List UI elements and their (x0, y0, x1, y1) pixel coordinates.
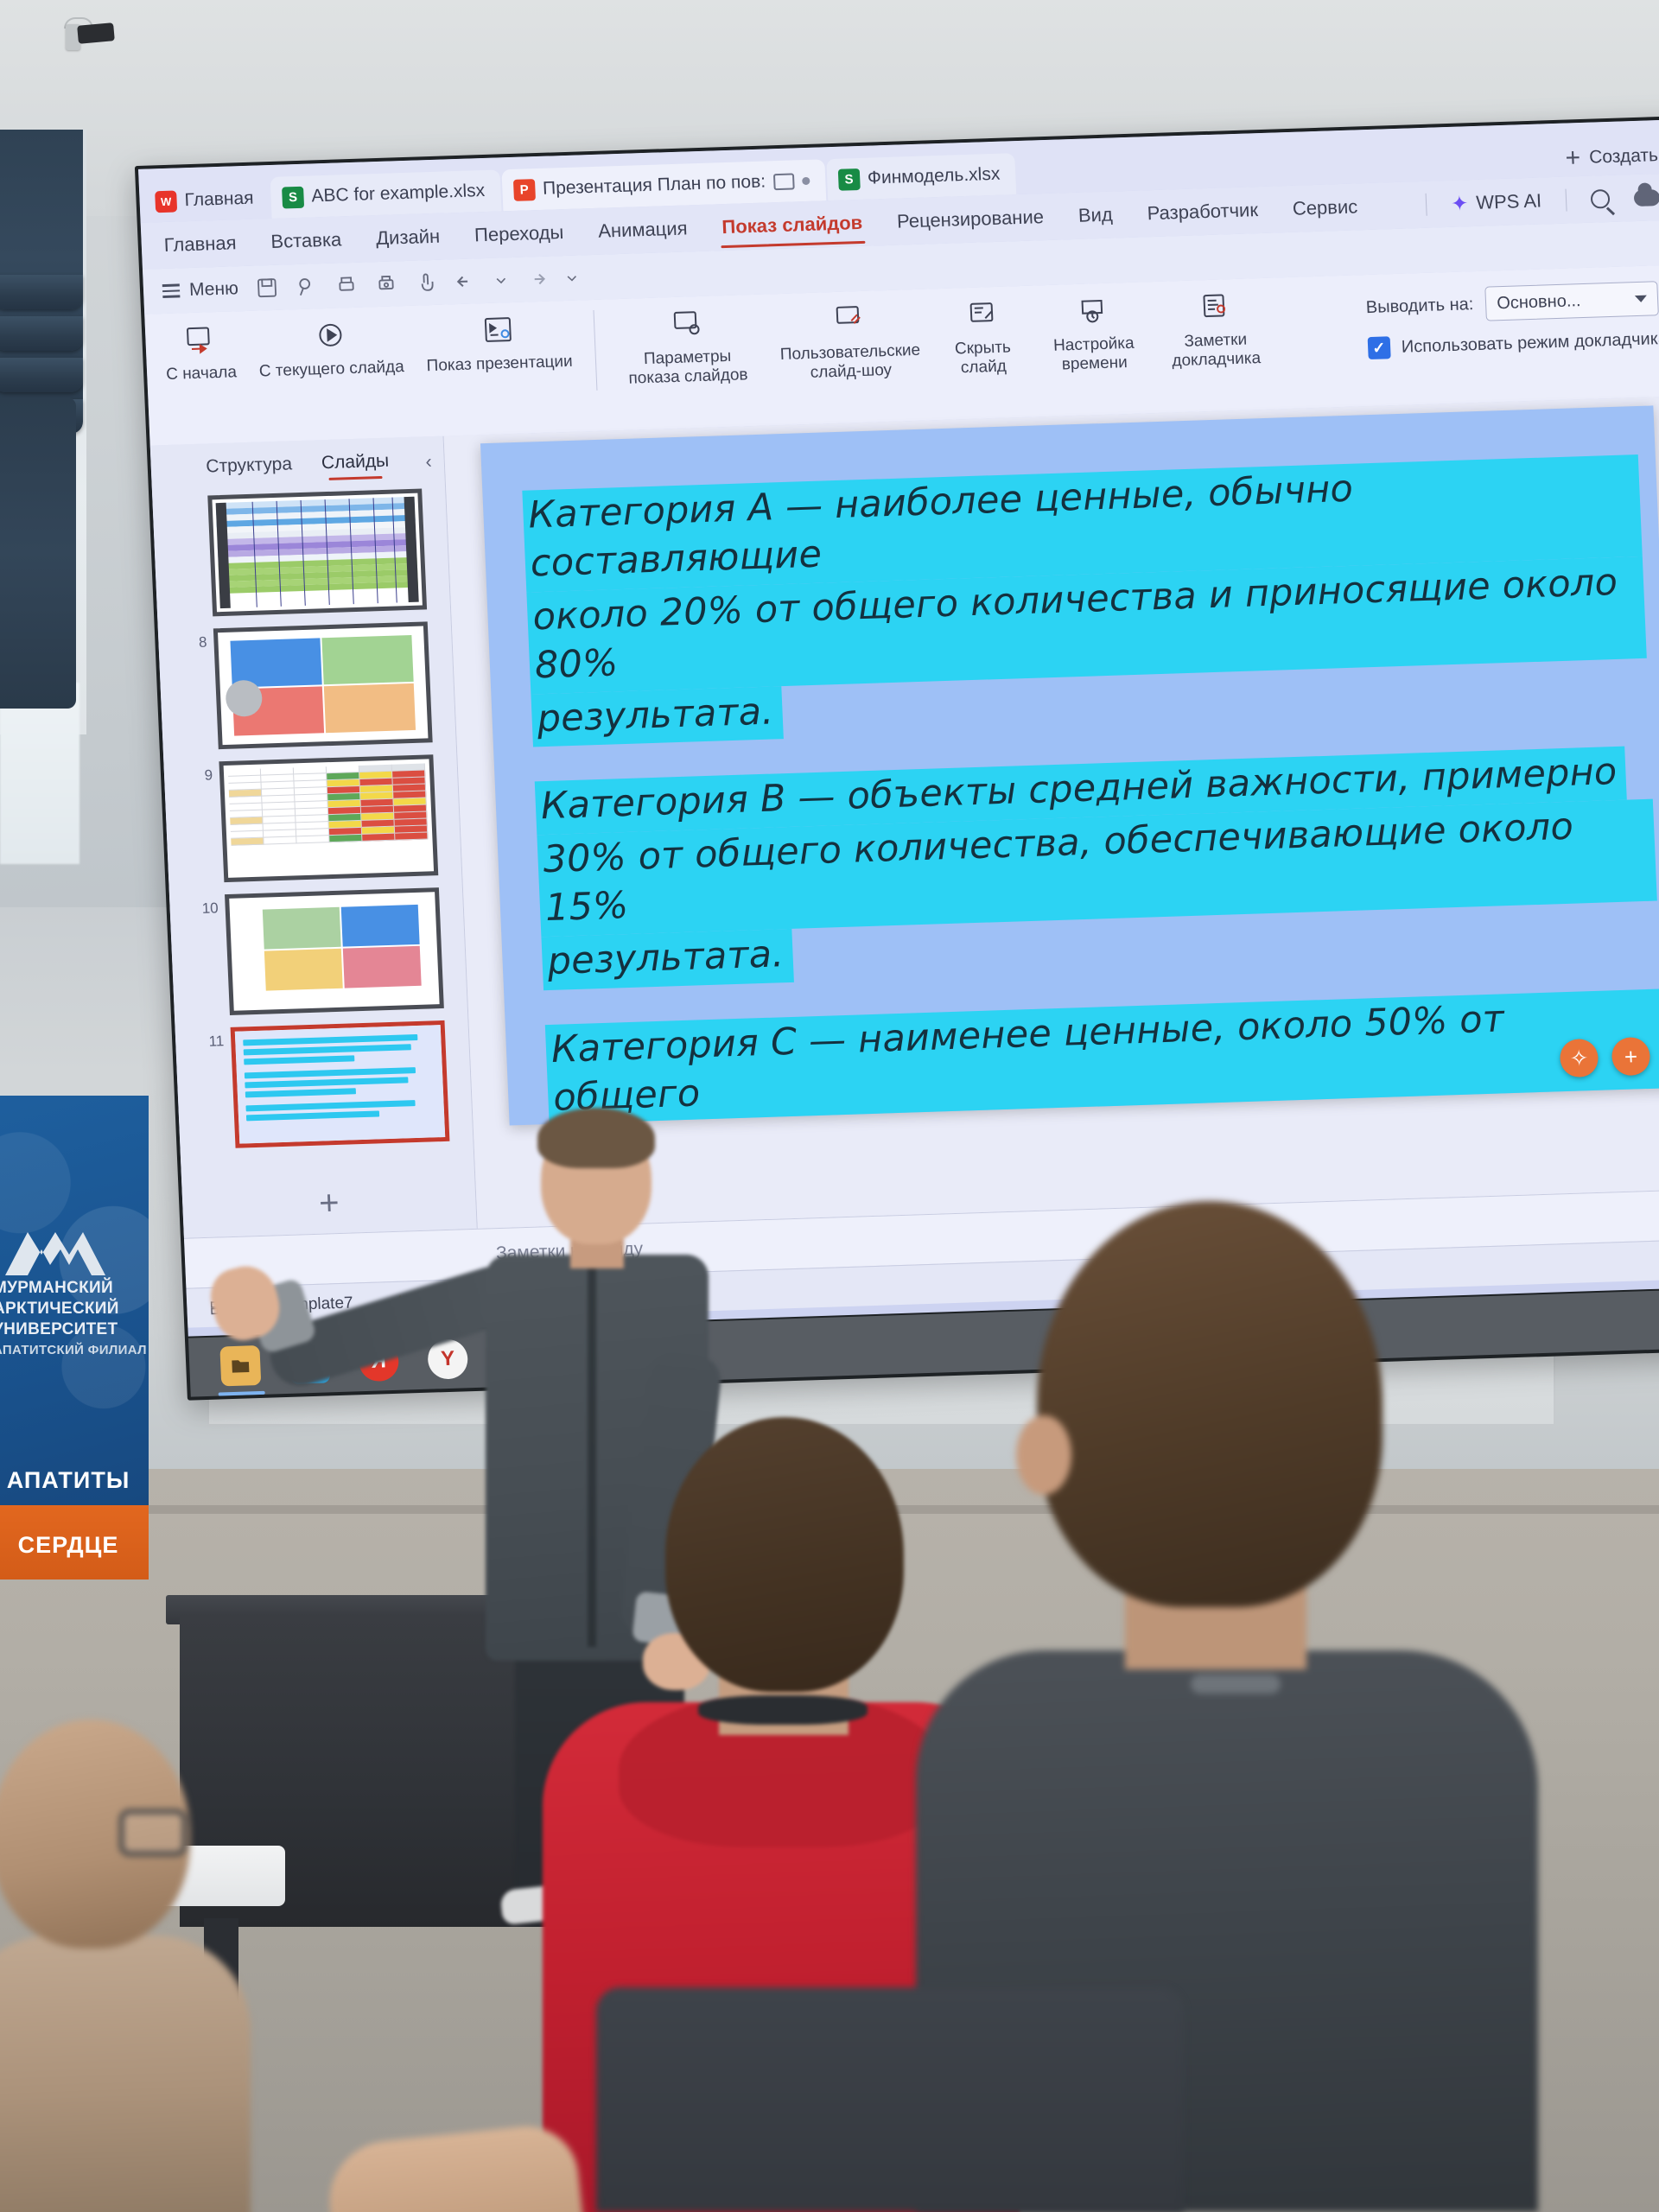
tab-home[interactable]: W Главная (148, 177, 270, 222)
output-value: Основно... (1497, 291, 1581, 314)
ribbon-tab-perehody[interactable]: Переходы (472, 218, 566, 250)
doc-tab-abc-example[interactable]: S ABC for example.xlsx (270, 169, 501, 219)
slide-thumbnail-matrix2[interactable] (225, 887, 444, 1015)
ribbon-right-tools: ✦ WPS AI (1426, 185, 1659, 218)
touch-mode-icon[interactable] (414, 271, 437, 295)
menu-button[interactable]: Меню (162, 278, 239, 302)
output-monitor-select[interactable]: Основно... (1484, 281, 1659, 321)
plus-icon: + (1565, 145, 1581, 172)
student-left (0, 1719, 251, 2212)
chevron-left-icon[interactable]: ‹ (425, 450, 432, 473)
ribbon-tab-pokaz-slaydov[interactable]: Показ слайдов (720, 208, 865, 242)
student-dark-ear (1016, 1415, 1071, 1495)
banner-line-4: АПАТИТСКИЙ ФИЛИАЛ (0, 1343, 149, 1357)
wps-ai-label: WPS AI (1476, 190, 1542, 214)
button-label: Параметры показа слайдов (618, 346, 758, 390)
foreground-chair (596, 1987, 1184, 2212)
chevron-down-icon[interactable] (493, 269, 508, 291)
hamburger-icon (162, 284, 181, 298)
play-circle-icon (310, 318, 350, 353)
presentation-show-button[interactable]: Показ презентации (424, 311, 573, 377)
slide-thumbnail-spreadsheet[interactable] (207, 488, 427, 616)
doc-tab-label: ABC for example.xlsx (311, 181, 486, 207)
slide-thumbnail-table[interactable] (219, 754, 438, 882)
file-explorer-icon[interactable] (219, 1345, 261, 1386)
wps-ai-button[interactable]: ✦ WPS AI (1451, 188, 1542, 216)
floating-action-buttons: ✧ + (1560, 1037, 1651, 1077)
thumb-content (235, 1025, 445, 1144)
blind-lower (0, 397, 76, 709)
student-red-head (665, 1417, 904, 1692)
customize-dropdown-icon[interactable] (564, 267, 579, 289)
window-light (0, 683, 79, 864)
slide-number: 9 (193, 761, 213, 785)
present-monitor-icon[interactable] (773, 173, 795, 190)
tab-slides[interactable]: Слайды (321, 451, 389, 474)
presentation-icon: P (513, 179, 536, 201)
search-icon[interactable] (1591, 189, 1611, 209)
spreadsheet-icon: S (837, 168, 860, 190)
slide-number: 11 (205, 1027, 225, 1051)
ribbon-tab-vid[interactable]: Вид (1076, 200, 1115, 230)
print-preview-icon[interactable] (374, 272, 397, 296)
ai-sparkle-icon: ✦ (1451, 191, 1469, 217)
slide-thumbnail-current-text[interactable] (231, 1020, 450, 1148)
presenter-hair (537, 1108, 655, 1168)
button-label: Заметки докладчика (1166, 330, 1267, 372)
start-from-beginning-button[interactable]: С начала (164, 321, 238, 385)
blind-fold (0, 358, 83, 392)
new-document-label: Создать (1589, 145, 1659, 168)
print-icon[interactable] (334, 274, 358, 297)
banner-line-2: АРКТИЧЕСКИЙ (0, 1300, 149, 1319)
start-from-current-slide-button[interactable]: С текущего слайда (257, 316, 404, 382)
list-item[interactable] (181, 488, 442, 617)
button-label: Настройка времени (1044, 334, 1145, 375)
doc-tab-label: Финмодель.xlsx (867, 164, 1000, 189)
slide-start-icon (181, 322, 220, 358)
slide-line: результата. (531, 686, 783, 747)
button-label: С текущего слайда (258, 358, 404, 382)
add-icon[interactable]: + (1611, 1037, 1651, 1076)
hide-slide-icon (962, 297, 1001, 333)
checkbox-checked-icon[interactable]: ✓ (1367, 336, 1390, 359)
speaker-notes-icon (1194, 289, 1234, 325)
tab-home-label: Главная (184, 188, 254, 212)
panel-tab-bar: Структура Слайды ‹ (150, 436, 445, 493)
student-red-collar (698, 1695, 868, 1725)
paragraph-category-b: Категория B — объекты средней важности, … (535, 746, 1659, 990)
list-item[interactable]: 10 (199, 887, 459, 1016)
rehearse-timing-icon (1072, 294, 1112, 329)
search-file-icon[interactable] (295, 275, 318, 298)
current-slide-canvas[interactable]: Категория A — наиболее ценные, обычно со… (480, 405, 1659, 1125)
undo-icon[interactable] (454, 270, 477, 293)
ribbon-tab-glavnaya[interactable]: Главная (162, 228, 238, 260)
lecture-hall-scene: W Главная S ABC for example.xlsx P Презе… (0, 0, 1659, 2212)
thumb-content (263, 905, 422, 991)
speaker-notes-button[interactable]: Заметки докладчика (1164, 289, 1267, 372)
ribbon-tab-dizayn[interactable]: Дизайн (374, 222, 442, 253)
list-item[interactable]: 9 (193, 754, 453, 883)
ribbon-group-start-show: С начала С текущего слайда (164, 310, 595, 385)
thumb-content (216, 497, 419, 608)
university-banner: МУРМАНСКИЙ АРКТИЧЕСКИЙ УНИВЕРСИТЕТ АПАТИ… (0, 1096, 149, 1580)
slide-thumbnail-list[interactable]: 8 9 (152, 483, 474, 1178)
divider (1566, 189, 1567, 212)
banner-tagline: СЕРДЦЕ (0, 1532, 149, 1559)
slideshow-settings-icon (666, 307, 706, 342)
paragraph-category-c: Категория C — наименее ценные, около 50%… (545, 988, 1659, 1125)
slide-navigator-panel: Структура Слайды ‹ (150, 436, 478, 1238)
output-monitor-row: Выводить на: Основно... (1365, 281, 1659, 325)
cloud-sync-icon[interactable] (1634, 189, 1659, 207)
student-dark-head (1037, 1201, 1382, 1607)
wps-logo-icon: W (155, 190, 177, 213)
output-label: Выводить на: (1365, 295, 1473, 318)
thumb-content (228, 764, 429, 874)
banner-city: АПАТИТЫ (0, 1467, 149, 1494)
doc-tab-label: Презентация План по пов: (543, 171, 766, 199)
wps-presentation-window: W Главная S ABC for example.xlsx P Презе… (138, 119, 1659, 1336)
custom-show-icon (829, 302, 869, 337)
presentation-play-icon (479, 313, 518, 348)
ribbon-tab-animaciya[interactable]: Анимация (596, 213, 690, 245)
chevron-down-icon (1635, 296, 1647, 302)
ribbon-tab-vstavka[interactable]: Вставка (269, 225, 344, 257)
button-label: Скрыть слайд (944, 338, 1023, 379)
slide-line: Категория C — наименее ценные, около 50%… (545, 988, 1659, 1125)
ribbon-tab-razrabotchik[interactable]: Разработчик (1145, 195, 1261, 228)
doc-tab-finmodel[interactable]: S Финмодель.xlsx (826, 153, 1016, 200)
ribbon-tab-recenzirovanie[interactable]: Рецензирование (894, 202, 1046, 237)
divider (1426, 194, 1427, 216)
button-label: С начала (166, 363, 238, 385)
ribbon-group-setup: Параметры показа слайдов Пользовательски… (593, 288, 1289, 391)
redo-icon[interactable] (524, 268, 548, 291)
menu-label: Меню (189, 278, 239, 301)
list-item[interactable]: 11 (205, 1020, 465, 1148)
ribbon-right-options: Выводить на: Основно... ✓ Использовать р… (1365, 276, 1659, 359)
button-label: Пользовательские слайд-шоу (779, 341, 923, 385)
workspace: Структура Слайды ‹ (150, 396, 1659, 1238)
slide-line: результата. (541, 929, 793, 990)
presenter-mode-label: Использовать режим докладчика (1401, 328, 1659, 357)
tab-outline[interactable]: Структура (206, 454, 293, 477)
security-camera-icon (77, 22, 115, 44)
thumb-content (230, 635, 416, 736)
rehearse-timing-button[interactable]: Настройка времени (1042, 292, 1145, 375)
ribbon-tab-servis[interactable]: Сервис (1290, 192, 1360, 224)
banner-line-3: УНИВЕРСИТЕТ (0, 1320, 149, 1339)
blind-fold (0, 316, 83, 351)
ai-magic-icon[interactable]: ✧ (1560, 1039, 1599, 1077)
slide-number: 8 (188, 629, 207, 652)
slide-text-content: Категория A — наиболее ценные, обычно со… (522, 454, 1659, 1126)
paragraph-category-a: Категория A — наиболее ценные, обычно со… (522, 454, 1649, 747)
add-slide-button[interactable]: + (181, 1168, 477, 1238)
custom-slideshow-button[interactable]: Пользовательские слайд-шоу (777, 300, 923, 385)
banner-line-1: МУРМАНСКИЙ (0, 1279, 149, 1298)
list-item[interactable]: 8 (188, 621, 448, 750)
blind-fold (0, 275, 83, 309)
button-label: Показ презентации (426, 353, 573, 377)
slide-editor: Категория A — наиболее ценные, обычно со… (444, 396, 1659, 1229)
slideshow-settings-button[interactable]: Параметры показа слайдов (616, 305, 758, 390)
presenter-mode-checkbox-row[interactable]: ✓ Использовать режим докладчика (1367, 327, 1659, 359)
student-dark-hood-cord (1191, 1675, 1281, 1694)
spreadsheet-icon: S (282, 186, 304, 208)
new-document-button[interactable]: + Создать (1565, 143, 1659, 171)
slide-thumbnail-matrix[interactable] (213, 621, 433, 749)
slide-number: 10 (199, 894, 219, 918)
hide-slide-button[interactable]: Скрыть слайд (942, 296, 1023, 379)
unsaved-dot-icon (802, 176, 810, 184)
save-icon[interactable] (255, 276, 278, 300)
slide-number (181, 496, 200, 502)
student-left-body (0, 1935, 251, 2212)
mau-logo (2, 1225, 116, 1277)
student-left-glasses (119, 1809, 187, 1856)
